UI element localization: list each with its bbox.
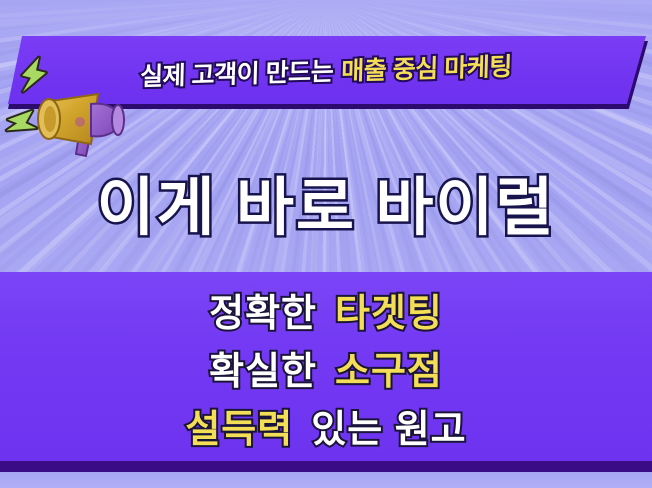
banner-highlight-text: 매출 중심 마케팅 xyxy=(341,47,513,88)
feature-1-yellow: 타겟팅 xyxy=(335,282,443,337)
feature-3-yellow: 설득력 xyxy=(185,398,293,453)
promo-banner-image: 실제 고객이 만드는 매출 중심 마케팅 xyxy=(0,0,652,488)
banner-white-text: 실제 고객이 만드는 xyxy=(140,52,334,93)
hero-title-text: 이게 바로 바이럴 xyxy=(97,157,556,248)
feature-line-2: 확실한 소구점 xyxy=(209,340,443,394)
features-list: 정확한 타겟팅 확실한 소구점 설득력 있는 원고 xyxy=(0,276,652,461)
feature-1-white: 정확한 xyxy=(209,282,317,337)
feature-2-yellow: 소구점 xyxy=(335,340,443,395)
feature-2-white: 확실한 xyxy=(209,340,317,395)
hero-title: 이게 바로 바이럴 xyxy=(0,155,652,250)
feature-line-3: 설득력 있는 원고 xyxy=(185,398,466,452)
feature-3-white: 있는 원고 xyxy=(311,398,466,453)
feature-line-1: 정확한 타겟팅 xyxy=(209,282,443,336)
bottom-strip xyxy=(0,472,652,488)
megaphone-icon xyxy=(36,82,128,160)
dark-divider-band xyxy=(0,461,652,472)
